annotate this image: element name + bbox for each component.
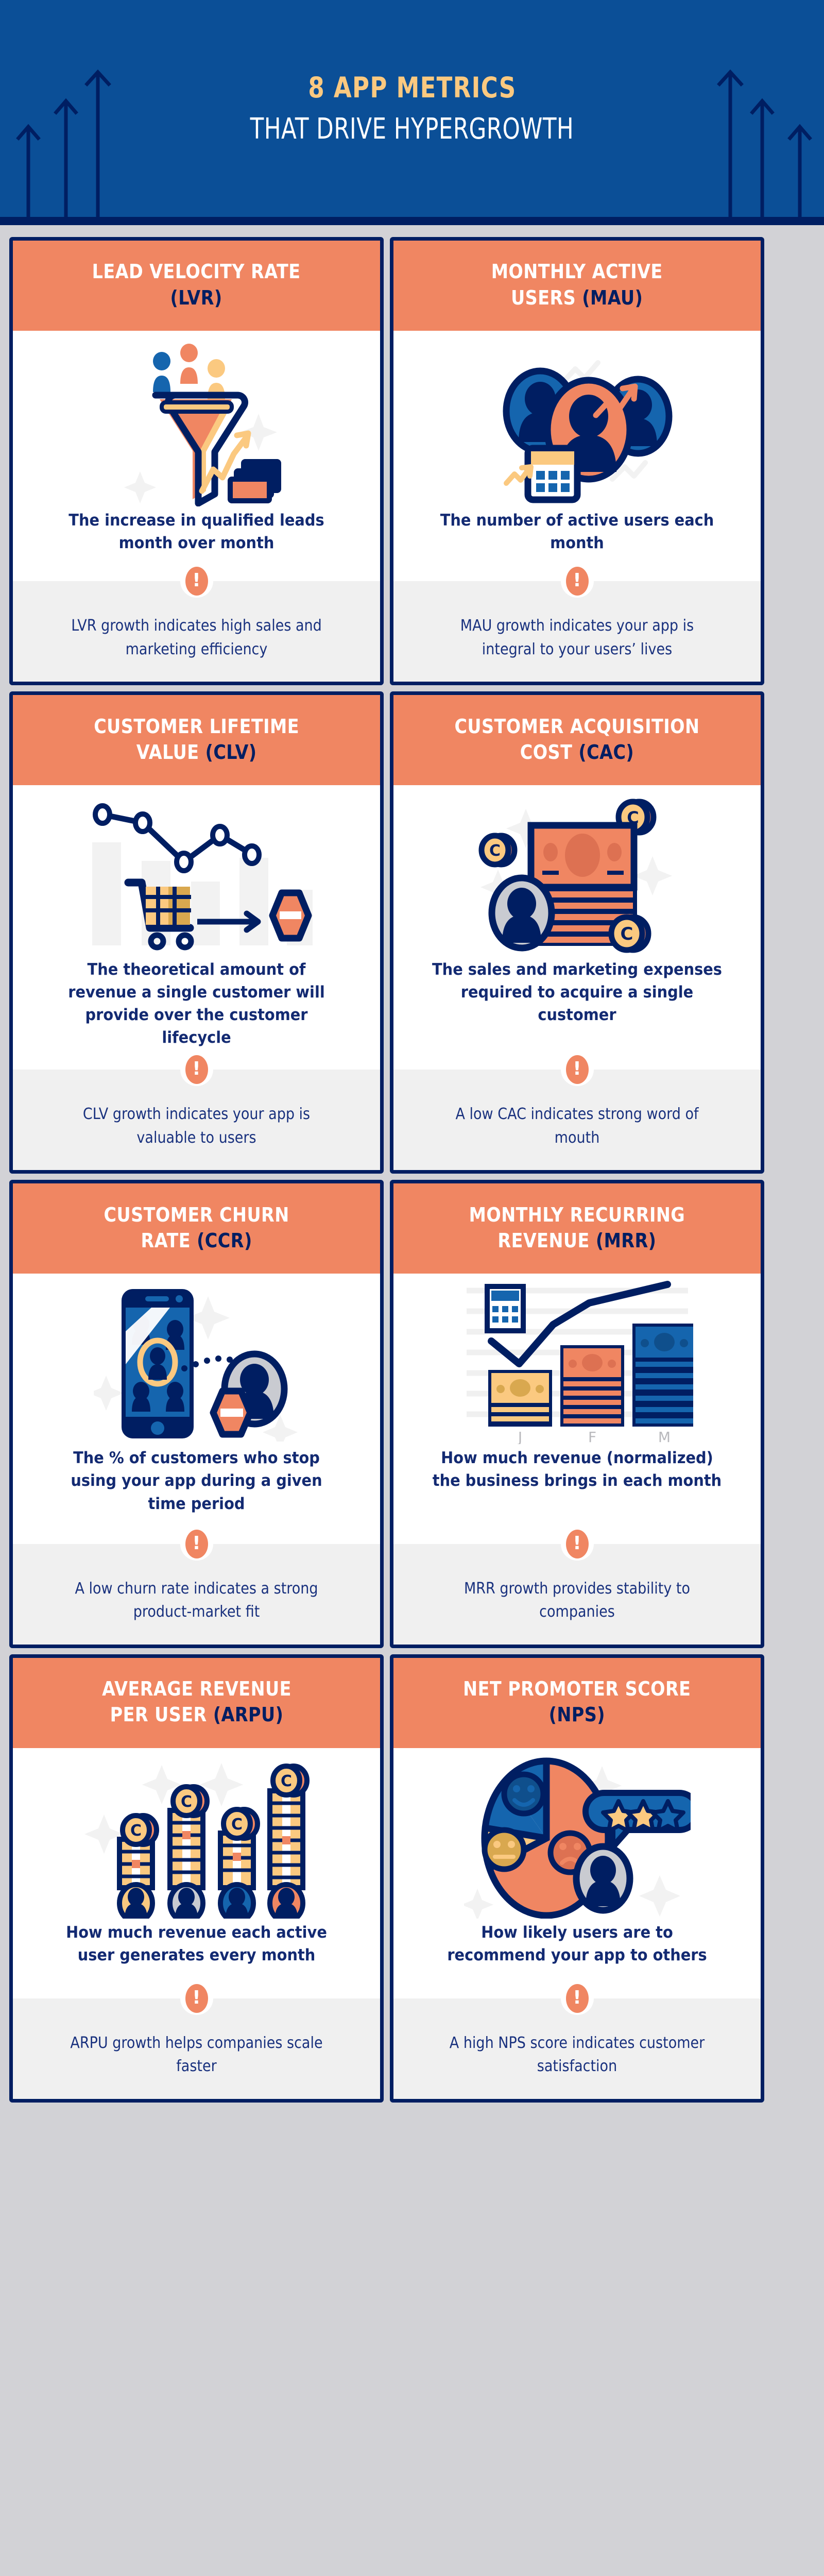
hero-baseline: [0, 217, 824, 225]
card-footer: ! MAU growth indicates your app is integ…: [393, 581, 761, 682]
card-body: J F M How much revenue (normalized) the …: [393, 1274, 761, 1544]
card-note: A low CAC indicates strong word of mouth: [432, 1103, 722, 1149]
card-header: LEAD VELOCITY RATE (LVR): [13, 241, 380, 331]
card-header: AVERAGE REVENUE PER USER (ARPU): [13, 1658, 380, 1748]
card-footer: ! MRR growth provides stability to compa…: [393, 1544, 761, 1645]
hero-title-primary: 8 APP METRICS: [308, 71, 516, 104]
metric-card-cac[interactable]: CUSTOMER ACQUISITION COST (CAC) C: [390, 691, 764, 1174]
axis-tick-f: F: [588, 1429, 596, 1444]
card-title-line1: NET PROMOTER SCORE: [463, 1677, 691, 1700]
card-body: C C C: [13, 1748, 380, 1998]
card-description: How much revenue (normalized) the busine…: [406, 1447, 748, 1492]
exclamation-glyph: !: [185, 567, 208, 596]
card-title-abbr: (ARPU): [213, 1703, 283, 1726]
card-header: MONTHLY ACTIVE USERS (MAU): [393, 241, 761, 331]
card-footer: ! A low churn rate indicates a strong pr…: [13, 1544, 380, 1645]
exclamation-glyph: !: [566, 1055, 589, 1084]
card-title-line1: MONTHLY RECURRING: [469, 1204, 685, 1226]
card-title-line2: COST (CAC): [520, 741, 634, 764]
card-title: MONTHLY RECURRING REVENUE (MRR): [469, 1202, 685, 1253]
exclamation-glyph: !: [185, 1984, 208, 2013]
exclamation-glyph: !: [566, 567, 589, 596]
card-body: The number of active users each month: [393, 331, 761, 581]
card-footer: ! LVR growth indicates high sales and ma…: [13, 581, 380, 682]
sales-funnel-icon: [13, 334, 380, 509]
card-description: The number of active users each month: [406, 509, 748, 554]
card-body: The % of customers who stop using your a…: [13, 1274, 380, 1544]
exclamation-badge: !: [180, 1982, 213, 2015]
card-title-abbr: (MAU): [582, 286, 643, 309]
card-footer: ! A high NPS score indicates customer sa…: [393, 1998, 761, 2099]
card-title-abbr: (CAC): [578, 741, 634, 764]
card-title-line1: AVERAGE REVENUE: [102, 1677, 291, 1700]
coin-stacks-users-icon: C C C: [13, 1751, 380, 1921]
exclamation-glyph: !: [185, 1055, 208, 1084]
card-title: AVERAGE REVENUE PER USER (ARPU): [102, 1676, 291, 1727]
metric-card-ccr[interactable]: CUSTOMER CHURN RATE (CCR): [9, 1180, 384, 1648]
card-title-abbr: (CCR): [197, 1229, 252, 1252]
card-description: The theoretical amount of revenue a sing…: [26, 958, 367, 1049]
card-header: CUSTOMER ACQUISITION COST (CAC): [393, 695, 761, 785]
metric-card-mrr[interactable]: MONTHLY RECURRING REVENUE (MRR): [390, 1180, 764, 1648]
card-title: CUSTOMER LIFETIME VALUE (CLV): [94, 714, 299, 765]
card-header: CUSTOMER LIFETIME VALUE (CLV): [13, 695, 380, 785]
card-title-line2: REVENUE (MRR): [497, 1229, 656, 1252]
card-title-line1: CUSTOMER LIFETIME: [94, 715, 299, 738]
pie-chart-feedback-icon: [393, 1751, 761, 1921]
metric-card-lvr[interactable]: LEAD VELOCITY RATE (LVR): [9, 237, 384, 685]
card-title: MONTHLY ACTIVE USERS (MAU): [491, 259, 663, 310]
exclamation-glyph: !: [566, 1530, 589, 1558]
card-description: The sales and marketing expenses require…: [406, 958, 748, 1026]
card-footer: ! ARPU growth helps companies scale fast…: [13, 1998, 380, 2099]
svg-text:C: C: [620, 924, 633, 944]
card-note: LVR growth indicates high sales and mark…: [51, 614, 341, 661]
card-title: NET PROMOTER SCORE (NPS): [463, 1676, 691, 1727]
card-footer: ! A low CAC indicates strong word of mou…: [393, 1070, 761, 1170]
exclamation-badge: !: [180, 1528, 213, 1561]
phone-user-leaving-icon: [13, 1277, 380, 1447]
axis-tick-j: J: [517, 1429, 522, 1444]
money-bar-chart-icon: J F M: [393, 1277, 761, 1447]
card-description: How likely users are to recommend your a…: [406, 1921, 748, 1967]
card-description: How much revenue each active user genera…: [26, 1921, 367, 1967]
card-header: CUSTOMER CHURN RATE (CCR): [13, 1183, 380, 1274]
users-calendar-icon: [393, 334, 761, 509]
card-body: How likely users are to recommend your a…: [393, 1748, 761, 1998]
card-title: CUSTOMER CHURN RATE (CCR): [104, 1202, 289, 1253]
exclamation-badge: !: [561, 1053, 594, 1086]
card-note: ARPU growth helps companies scale faster: [51, 2031, 341, 2078]
exclamation-glyph: !: [185, 1530, 208, 1558]
hero-banner: 8 APP METRICS THAT DRIVE HYPERGROWTH: [0, 0, 824, 225]
card-title-line2: RATE (CCR): [141, 1229, 252, 1252]
svg-text:C: C: [180, 1793, 192, 1811]
card-title: LEAD VELOCITY RATE (LVR): [92, 259, 301, 310]
card-title-line2: USERS (MAU): [511, 286, 643, 309]
card-body: The increase in qualified leads month ov…: [13, 331, 380, 581]
exclamation-badge: !: [180, 565, 213, 598]
card-title-line1: CUSTOMER ACQUISITION: [455, 715, 700, 738]
card-note: A high NPS score indicates customer sati…: [432, 2031, 722, 2078]
card-note: MAU growth indicates your app is integra…: [432, 614, 722, 661]
shopping-cart-chart-icon: [13, 788, 380, 958]
exclamation-badge: !: [561, 1528, 594, 1561]
card-title-abbr: (CLV): [205, 741, 256, 764]
exclamation-badge: !: [561, 1982, 594, 2015]
svg-text:C: C: [280, 1772, 291, 1790]
card-description: The increase in qualified leads month ov…: [26, 509, 367, 554]
hero-title-secondary: THAT DRIVE HYPERGROWTH: [250, 112, 574, 146]
metric-card-grid: LEAD VELOCITY RATE (LVR): [0, 225, 824, 2115]
card-title-line2: (LVR): [170, 286, 222, 309]
card-header: NET PROMOTER SCORE (NPS): [393, 1658, 761, 1748]
svg-text:C: C: [489, 842, 500, 860]
svg-text:C: C: [231, 1816, 242, 1834]
card-title-line2: (NPS): [549, 1703, 605, 1726]
cash-coins-customer-icon: C C: [393, 788, 761, 958]
exclamation-badge: !: [180, 1053, 213, 1086]
metric-card-mau[interactable]: MONTHLY ACTIVE USERS (MAU): [390, 237, 764, 685]
metric-card-clv[interactable]: CUSTOMER LIFETIME VALUE (CLV): [9, 691, 384, 1174]
card-note: A low churn rate indicates a strong prod…: [51, 1577, 341, 1624]
exclamation-glyph: !: [566, 1984, 589, 2013]
card-title-line1: LEAD VELOCITY RATE: [92, 260, 301, 283]
metric-card-nps[interactable]: NET PROMOTER SCORE (NPS): [390, 1654, 764, 2103]
card-footer: ! CLV growth indicates your app is valua…: [13, 1070, 380, 1170]
card-title-line2: PER USER (ARPU): [110, 1703, 283, 1726]
card-title: CUSTOMER ACQUISITION COST (CAC): [455, 714, 700, 765]
card-note: MRR growth provides stability to compani…: [432, 1577, 722, 1624]
card-body: The theoretical amount of revenue a sing…: [13, 785, 380, 1070]
card-title-line1: MONTHLY ACTIVE: [491, 260, 663, 283]
card-header: MONTHLY RECURRING REVENUE (MRR): [393, 1183, 761, 1274]
card-title-line2: VALUE (CLV): [136, 741, 257, 764]
axis-tick-m: M: [658, 1429, 670, 1444]
card-note: CLV growth indicates your app is valuabl…: [51, 1103, 341, 1149]
card-body: C C: [393, 785, 761, 1070]
exclamation-badge: !: [561, 565, 594, 598]
card-description: The % of customers who stop using your a…: [26, 1447, 367, 1515]
card-title-line1: CUSTOMER CHURN: [104, 1204, 289, 1226]
metric-card-arpu[interactable]: AVERAGE REVENUE PER USER (ARPU): [9, 1654, 384, 2103]
card-title-abbr: (MRR): [596, 1229, 657, 1252]
svg-text:C: C: [130, 1822, 141, 1840]
